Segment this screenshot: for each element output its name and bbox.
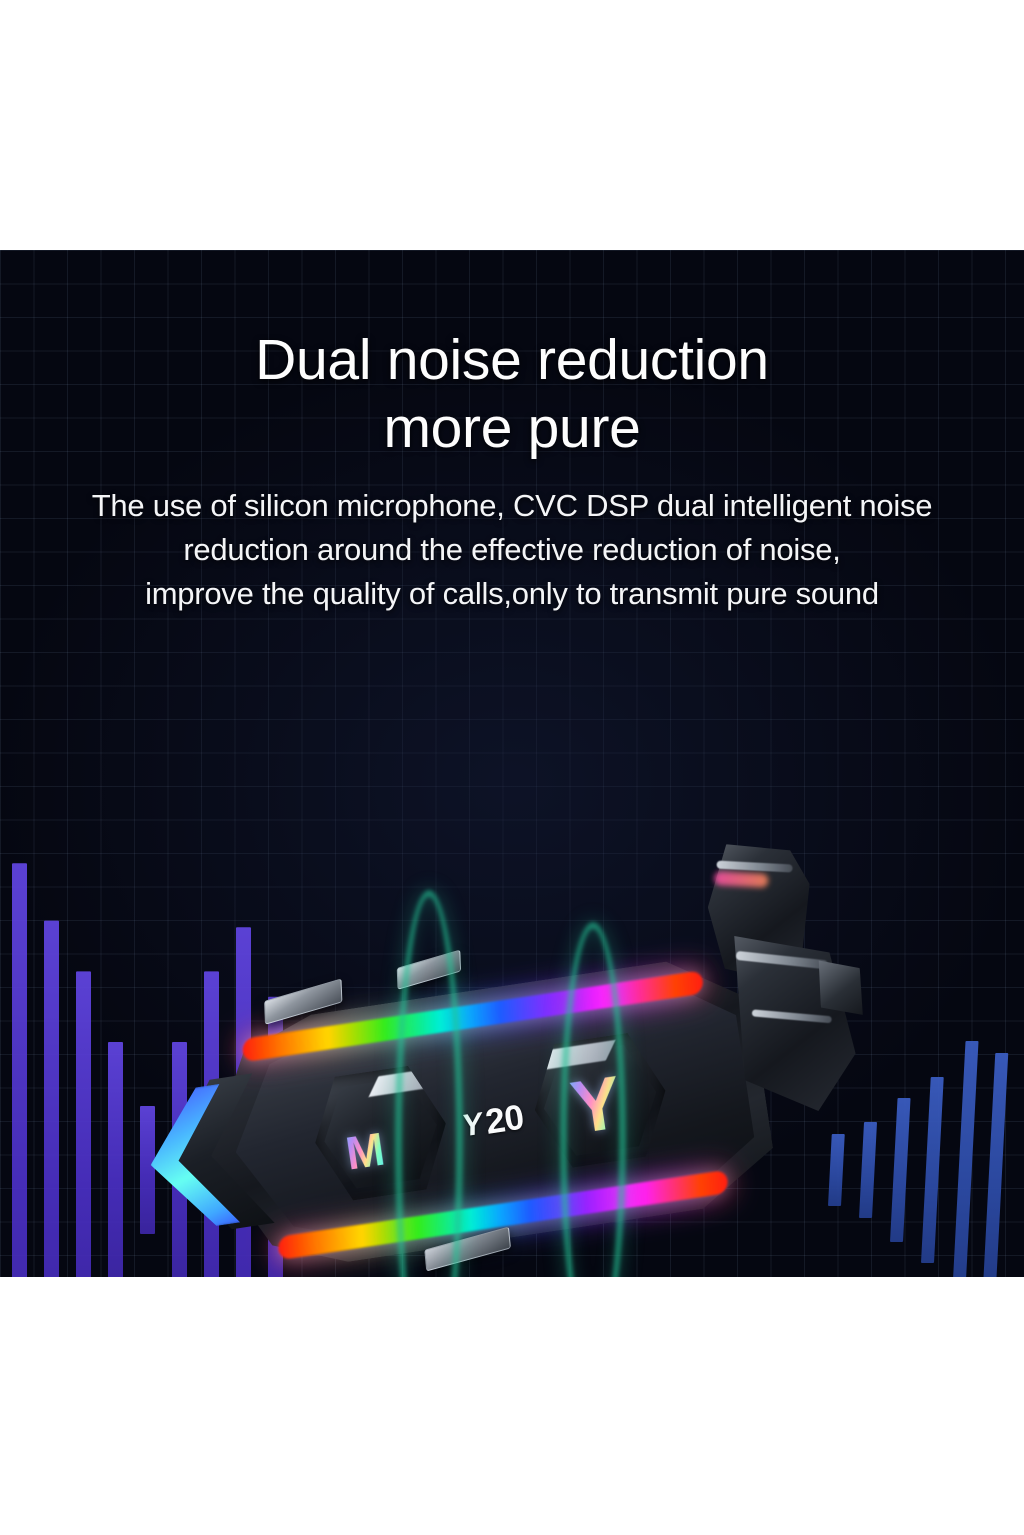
headline-line-1: Dual noise reduction <box>0 326 1024 394</box>
waveform-bar <box>108 1042 123 1277</box>
waveform-bar <box>921 1077 944 1263</box>
page-root: M Y 20 Y Dual noise reduction more <box>0 0 1024 1535</box>
waveform-bar <box>890 1098 911 1242</box>
device-body: M Y 20 Y <box>190 950 781 1277</box>
subcopy-line-1: The use of silicon microphone, CVC DSP d… <box>0 484 1024 528</box>
subcopy-line-2: reduction around the effective reduction… <box>0 528 1024 572</box>
waveform-bar <box>44 920 59 1277</box>
product-image: M Y 20 Y <box>165 895 865 1277</box>
page-subtitle: The use of silicon microphone, CVC DSP d… <box>0 484 1024 616</box>
model-prefix: Y <box>462 1107 483 1141</box>
model-number: 20 <box>483 1100 526 1140</box>
model-label: Y 20 <box>460 1100 526 1144</box>
headline-line-2: more pure <box>0 394 1024 462</box>
page-title: Dual noise reduction more pure <box>0 250 1024 462</box>
waveform-bar <box>76 972 91 1277</box>
hero-panel: M Y 20 Y Dual noise reduction more <box>0 250 1024 1277</box>
brand-logo-m: M <box>343 1126 387 1177</box>
marketing-copy: Dual noise reduction more pure The use o… <box>0 250 1024 616</box>
subcopy-line-3: improve the quality of calls,only to tra… <box>0 572 1024 616</box>
waveform-bar <box>12 863 27 1277</box>
waveform-bar <box>983 1053 1008 1277</box>
chevron-light-icon <box>140 1080 268 1234</box>
mount-pink-glow <box>714 871 769 888</box>
waveform-bar <box>952 1041 979 1277</box>
